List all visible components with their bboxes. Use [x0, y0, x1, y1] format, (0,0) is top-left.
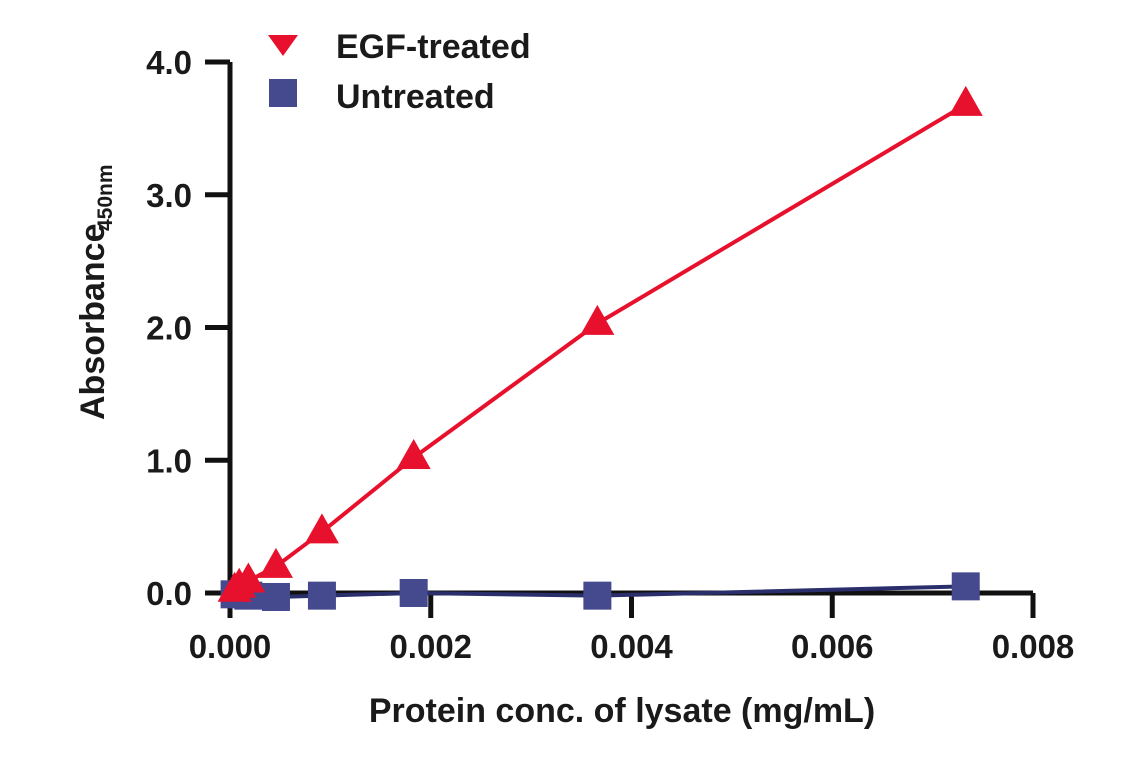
data-point-egf-treated: [580, 305, 614, 335]
axes-group: [230, 62, 1033, 593]
series-line-egf-treated: [235, 104, 966, 590]
x-tick-label: 0.008: [992, 628, 1075, 665]
legend-marker-square-icon: [269, 79, 297, 107]
y-tick-label: 0.0: [146, 575, 192, 612]
legend-label-egf-treated: EGF-treated: [336, 28, 531, 66]
legend-label-untreated: Untreated: [336, 78, 495, 116]
y-axis-ticks: [205, 62, 230, 593]
y-tick-label: 2.0: [146, 310, 192, 347]
y-tick-label: 4.0: [146, 44, 192, 81]
y-tick-label: 1.0: [146, 442, 192, 479]
data-point-untreated: [583, 582, 611, 610]
x-axis-title: Protein conc. of lysate (mg/mL): [369, 692, 875, 730]
data-point-untreated: [952, 572, 980, 600]
x-tick-label: 0.004: [590, 628, 673, 665]
x-axis-tick-labels: 0.0000.0020.0040.0060.008: [189, 628, 1075, 665]
data-point-egf-treated: [949, 86, 983, 116]
chart-figure: 0.01.02.03.04.0 0.0000.0020.0040.0060.00…: [0, 0, 1141, 768]
chart-canvas: 0.01.02.03.04.0 0.0000.0020.0040.0060.00…: [0, 0, 1141, 768]
y-axis-title: Absorbance 450nm: [74, 164, 117, 420]
y-axis-title-subscript: 450nm: [94, 164, 117, 231]
x-tick-label: 0.002: [389, 628, 472, 665]
y-tick-label: 3.0: [146, 177, 192, 214]
data-point-untreated: [400, 579, 428, 607]
x-tick-label: 0.006: [791, 628, 874, 665]
chart-legend: EGF-treated Untreated: [268, 28, 531, 116]
data-point-egf-treated: [397, 439, 431, 469]
data-point-untreated: [308, 582, 336, 610]
legend-marker-triangle-icon: [268, 35, 298, 56]
egf-trend-line: [235, 104, 966, 590]
data-point-egf-treated: [259, 548, 293, 578]
x-tick-label: 0.000: [189, 628, 272, 665]
data-point-untreated: [262, 583, 290, 611]
data-point-egf-treated: [305, 513, 339, 543]
y-axis-tick-labels: 0.01.02.03.04.0: [146, 44, 192, 612]
y-axis-title-main: Absorbance: [74, 224, 112, 421]
